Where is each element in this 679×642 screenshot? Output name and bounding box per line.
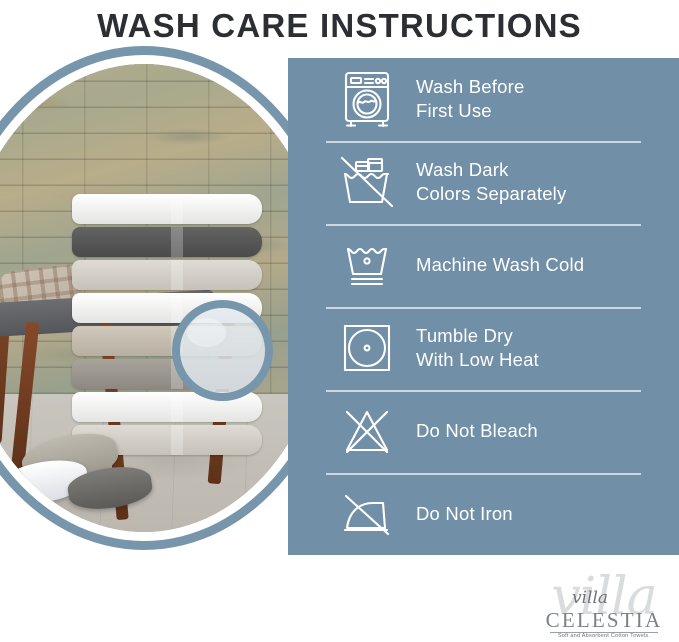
- instruction-row-wash-dark-colors-separately: Wash Dark Colors Separately: [288, 141, 679, 224]
- washing-machine-icon: [330, 66, 404, 132]
- do-not-iron-icon: [330, 481, 404, 547]
- folded-towel: [72, 227, 262, 257]
- instructions-list: Wash Before First Use Wash Dark: [288, 58, 679, 555]
- wash-care-instructions-page: WASH CARE INSTRUCTIONS: [0, 0, 679, 642]
- instruction-row-do-not-iron: Do Not Iron: [288, 473, 679, 555]
- do-not-bleach-icon: [330, 398, 404, 464]
- wash-dark-colors-separately-icon: [330, 149, 404, 215]
- instruction-label: Machine Wash Cold: [416, 253, 584, 277]
- instruction-label: Do Not Bleach: [416, 419, 538, 443]
- instruction-label: Tumble Dry With Low Heat: [416, 324, 539, 373]
- product-photo: [0, 64, 328, 532]
- logo-brand-name: CELESTIA: [538, 608, 670, 633]
- instruction-row-wash-before-first-use: Wash Before First Use: [288, 58, 679, 141]
- brand-logo: villa villa CELESTIA Soft and Absorbent …: [536, 566, 672, 640]
- instruction-row-do-not-bleach: Do Not Bleach: [288, 390, 679, 473]
- instructions-panel: Wash Before First Use Wash Dark: [288, 58, 679, 555]
- instruction-label: Wash Dark Colors Separately: [416, 158, 566, 207]
- tumble-dry-low-heat-icon: [330, 315, 404, 381]
- page-header: WASH CARE INSTRUCTIONS: [0, 0, 679, 52]
- instruction-label: Wash Before First Use: [416, 75, 524, 124]
- folded-towel: [72, 194, 262, 224]
- instruction-label: Do Not Iron: [416, 502, 513, 526]
- instruction-row-machine-wash-cold: Machine Wash Cold: [288, 224, 679, 307]
- page-title: WASH CARE INSTRUCTIONS: [97, 7, 582, 45]
- instruction-row-tumble-dry-low-heat: Tumble Dry With Low Heat: [288, 307, 679, 390]
- machine-wash-cold-icon: [330, 232, 404, 298]
- magnifier-lens-icon: [172, 300, 273, 401]
- folded-towel: [72, 260, 262, 290]
- logo-tagline: Soft and Absorbent Cotton Towels.: [538, 633, 670, 639]
- logo-script-text: villa: [572, 588, 608, 608]
